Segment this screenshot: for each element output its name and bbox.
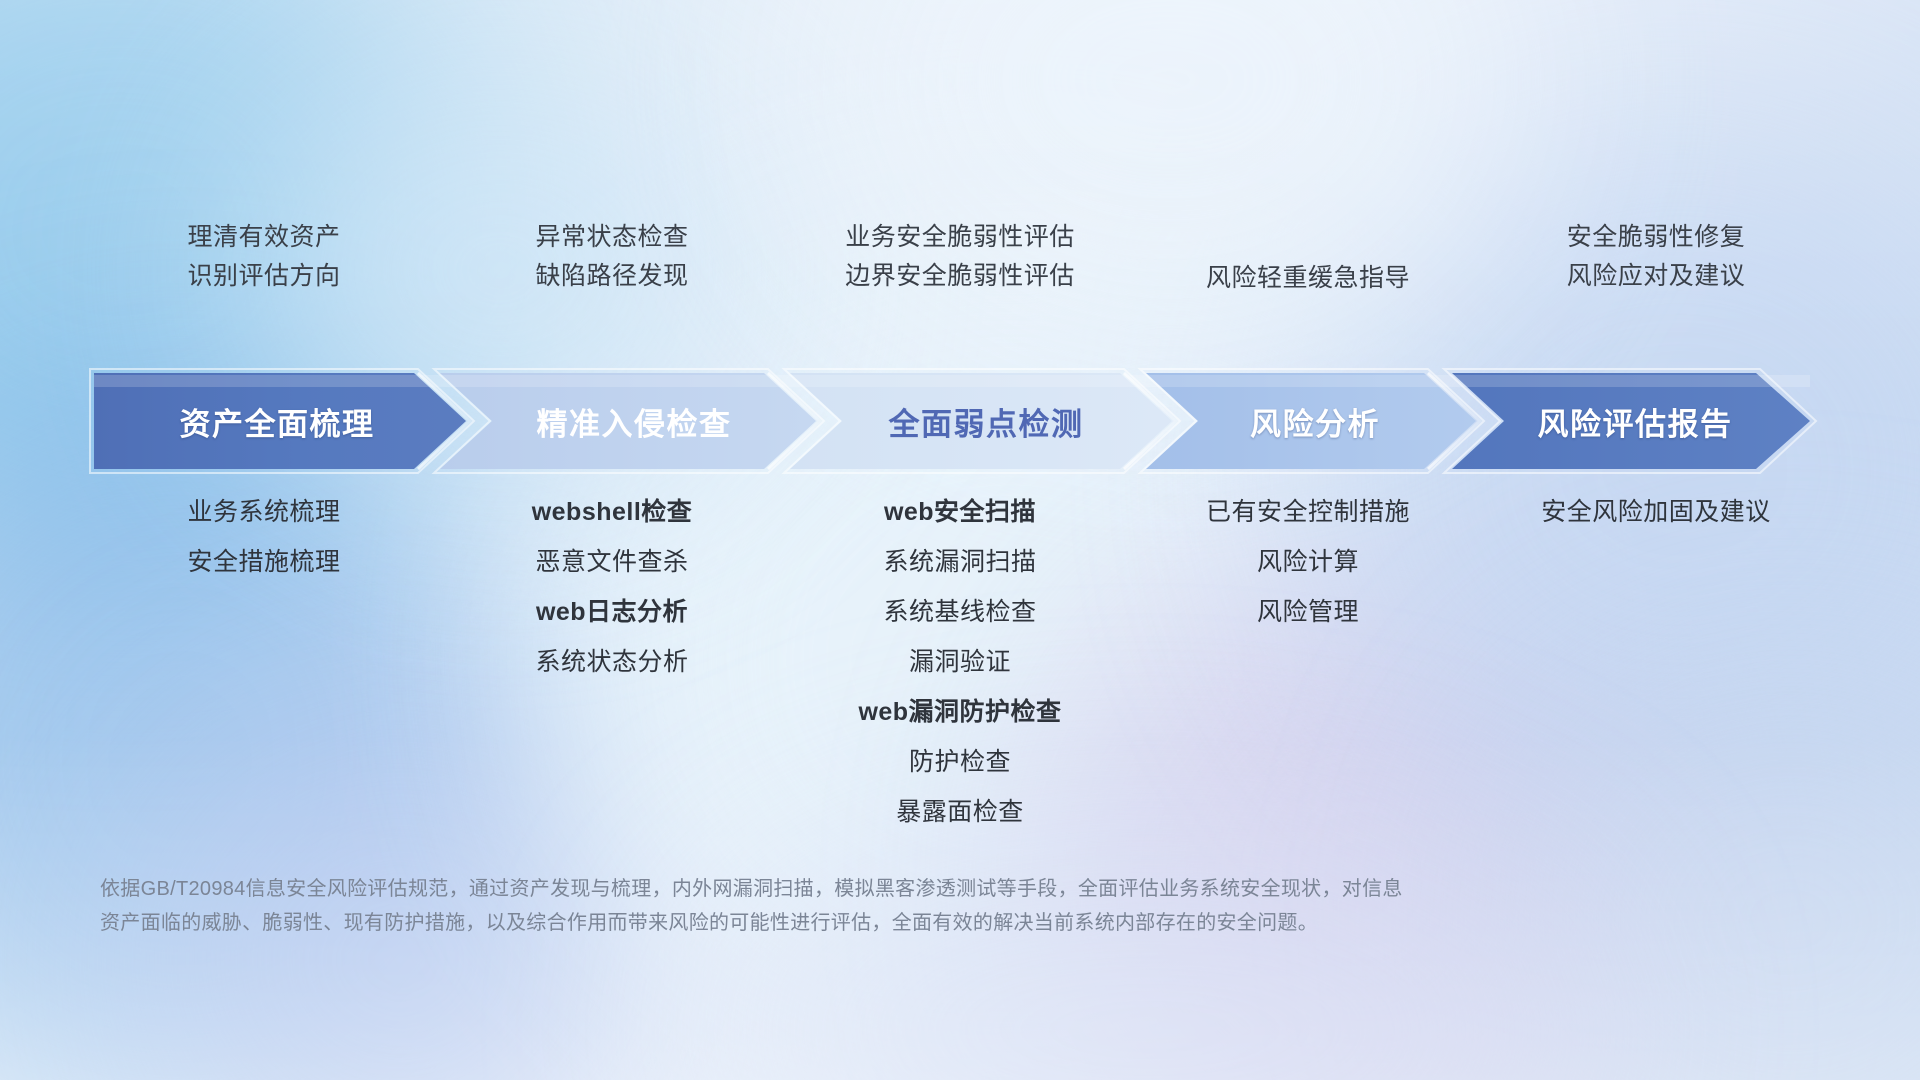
- bottom-detail-col-5: 安全风险加固及建议: [1482, 500, 1830, 525]
- bottom-detail-col-4: 已有安全控制措施风险计算风险管理: [1134, 500, 1482, 625]
- diagram-content: 理清有效资产识别评估方向异常状态检查缺陷路径发现业务安全脆弱性评估边界安全脆弱性…: [0, 0, 1920, 1080]
- detail-item: web安全扫描: [884, 500, 1036, 525]
- top-annotation-line: 风险应对及建议: [1567, 264, 1746, 289]
- chevron-shapes: [88, 367, 1818, 475]
- detail-item: web日志分析: [536, 600, 688, 625]
- detail-item: 漏洞验证: [909, 650, 1011, 675]
- top-annotation-col-1: 理清有效资产识别评估方向: [90, 225, 438, 340]
- top-annotation-line: 业务安全脆弱性评估: [845, 225, 1075, 250]
- detail-item: web漏洞防护检查: [858, 700, 1061, 725]
- chevron-step-3[interactable]: [790, 373, 1172, 469]
- top-annotation-col-5: 安全脆弱性修复风险应对及建议: [1482, 225, 1830, 340]
- footer-line-1: 依据GB/T20984信息安全风险评估规范，通过资产发现与梳理，内外网漏洞扫描，…: [100, 872, 1620, 906]
- detail-item: 业务系统梳理: [187, 500, 340, 525]
- detail-item: 安全措施梳理: [187, 550, 340, 575]
- top-annotation-line: 异常状态检查: [535, 225, 688, 250]
- top-annotation-line: 边界安全脆弱性评估: [845, 264, 1075, 289]
- bottom-detail-col-2: webshell检查恶意文件查杀web日志分析系统状态分析: [438, 500, 786, 675]
- bottom-detail-col-3: web安全扫描系统漏洞扫描系统基线检查漏洞验证web漏洞防护检查防护检查暴露面检…: [786, 500, 1134, 825]
- process-chevron-banner: 资产全面梳理 精准入侵检查 全面弱点检测 风险分析 风险评估报告: [88, 367, 1818, 475]
- footer-description: 依据GB/T20984信息安全风险评估规范，通过资产发现与梳理，内外网漏洞扫描，…: [100, 872, 1620, 940]
- chevron-step-2[interactable]: [440, 373, 816, 469]
- detail-item: 恶意文件查杀: [535, 550, 688, 575]
- chevron-step-5[interactable]: [1452, 373, 1810, 469]
- detail-item: 安全风险加固及建议: [1541, 500, 1771, 525]
- bottom-detail-col-1: 业务系统梳理安全措施梳理: [90, 500, 438, 575]
- footer-line-2: 资产面临的威胁、脆弱性、现有防护措施，以及综合作用而带来风险的可能性进行评估，全…: [100, 906, 1620, 940]
- top-annotation-line: 安全脆弱性修复: [1567, 225, 1746, 250]
- detail-item: 风险管理: [1257, 600, 1359, 625]
- detail-item: 防护检查: [909, 750, 1011, 775]
- chevron-step-1[interactable]: [94, 373, 466, 469]
- top-annotation-col-2: 异常状态检查缺陷路径发现: [438, 225, 786, 340]
- detail-item: 系统漏洞扫描: [883, 550, 1036, 575]
- detail-item: 暴露面检查: [896, 800, 1024, 825]
- detail-item: 风险计算: [1257, 550, 1359, 575]
- detail-item: webshell检查: [532, 500, 693, 525]
- top-annotation-row: 理清有效资产识别评估方向异常状态检查缺陷路径发现业务安全脆弱性评估边界安全脆弱性…: [90, 225, 1830, 340]
- detail-item: 系统状态分析: [535, 650, 688, 675]
- detail-item: 系统基线检查: [883, 600, 1036, 625]
- top-annotation-line: 识别评估方向: [187, 264, 340, 289]
- top-annotation-line: 理清有效资产: [187, 225, 340, 250]
- top-annotation-line: 缺陷路径发现: [535, 264, 688, 289]
- bottom-detail-row: 业务系统梳理安全措施梳理webshell检查恶意文件查杀web日志分析系统状态分…: [90, 500, 1830, 825]
- detail-item: 已有安全控制措施: [1206, 500, 1410, 525]
- top-annotation-col-4: 风险轻重缓急指导: [1134, 225, 1482, 340]
- top-annotation-line: 风险轻重缓急指导: [1206, 266, 1410, 291]
- top-annotation-col-3: 业务安全脆弱性评估边界安全脆弱性评估: [786, 225, 1134, 340]
